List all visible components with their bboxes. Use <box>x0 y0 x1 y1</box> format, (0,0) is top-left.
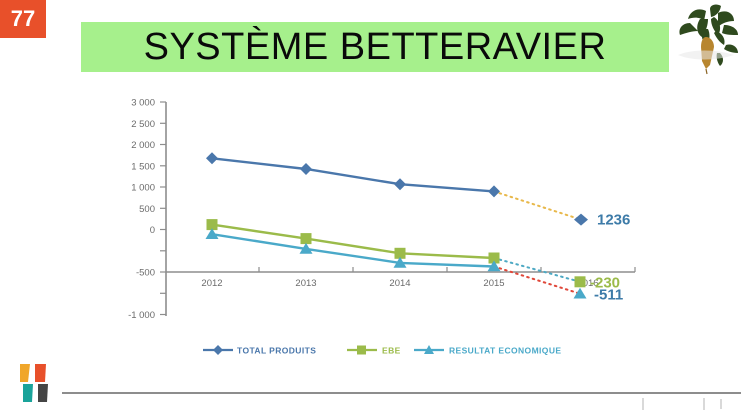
title-banner: SYSTÈME BETTERAVIER <box>81 22 669 72</box>
x-axis-tick-labels: 2012 2013 2014 2015 2016 <box>201 278 598 289</box>
x-tick-label: 2012 <box>201 278 222 289</box>
data-point-marker <box>394 178 406 190</box>
y-tick-label: 1 000 <box>131 183 155 194</box>
line-chart: 3 000 2 500 2 000 1 500 1 000 500 0 -500… <box>0 88 747 368</box>
data-point-marker-endpoint <box>574 214 588 226</box>
data-label-total-produits: 1236 <box>597 212 630 229</box>
legend-label-resultat-economique: RESULTAT ECONOMIQUE <box>449 346 561 356</box>
legend-swatch-marker <box>213 345 223 355</box>
y-tick-label: 3 000 <box>131 98 155 109</box>
chart-legend: TOTAL PRODUITS EBE RESULTAT ECONOMIQUE <box>203 345 561 356</box>
data-point-marker-endpoint <box>574 288 587 299</box>
x-tick-label: 2013 <box>295 278 316 289</box>
series-projection-total-produits <box>494 191 581 219</box>
page-title: SYSTÈME BETTERAVIER <box>144 26 607 69</box>
legend-swatch-marker <box>357 346 366 355</box>
y-axis-ticks <box>160 102 166 315</box>
series-line-resultat-economique <box>212 234 494 266</box>
y-tick-label: -1 000 <box>128 310 155 321</box>
organization-logo-icon <box>14 362 64 404</box>
series-total-produits: 1236 <box>206 152 630 228</box>
data-point-marker <box>206 152 218 164</box>
y-tick-label: 1 500 <box>131 161 155 172</box>
slide-number-badge: 77 <box>0 0 46 38</box>
series-resultat-economique: -511 <box>206 228 624 303</box>
legend-item-ebe[interactable]: EBE <box>347 346 401 356</box>
page-tick-marks <box>620 392 747 416</box>
series-ebe: -230 <box>207 219 621 291</box>
y-tick-label: 500 <box>139 204 155 215</box>
x-tick-label: 2015 <box>483 278 504 289</box>
data-label-resultat-economique: -511 <box>594 287 623 304</box>
series-projection-resultat-economique <box>494 267 580 294</box>
legend-label-ebe: EBE <box>382 346 401 356</box>
x-tick-label: 2014 <box>389 278 410 289</box>
y-tick-label: 2 000 <box>131 140 155 151</box>
legend-item-resultat-economique[interactable]: RESULTAT ECONOMIQUE <box>414 345 561 356</box>
data-point-marker-endpoint <box>575 276 586 287</box>
data-point-marker <box>301 233 312 244</box>
sugar-beet-plant-icon <box>676 3 744 75</box>
y-axis-tick-labels: 3 000 2 500 2 000 1 500 1 000 500 0 -500… <box>128 98 155 322</box>
legend-label-total-produits: TOTAL PRODUITS <box>237 346 316 356</box>
chart-container: 3 000 2 500 2 000 1 500 1 000 500 0 -500… <box>0 88 747 368</box>
data-point-marker <box>300 163 312 175</box>
y-tick-label: 0 <box>150 225 155 236</box>
series-line-total-produits <box>212 158 494 191</box>
data-point-marker <box>488 185 500 197</box>
legend-item-total-produits[interactable]: TOTAL PRODUITS <box>203 345 316 356</box>
slide-canvas: 77 SYSTÈME BETTERAVIER <box>0 0 747 420</box>
y-tick-label: -500 <box>136 268 155 279</box>
y-tick-label: 2 500 <box>131 119 155 130</box>
